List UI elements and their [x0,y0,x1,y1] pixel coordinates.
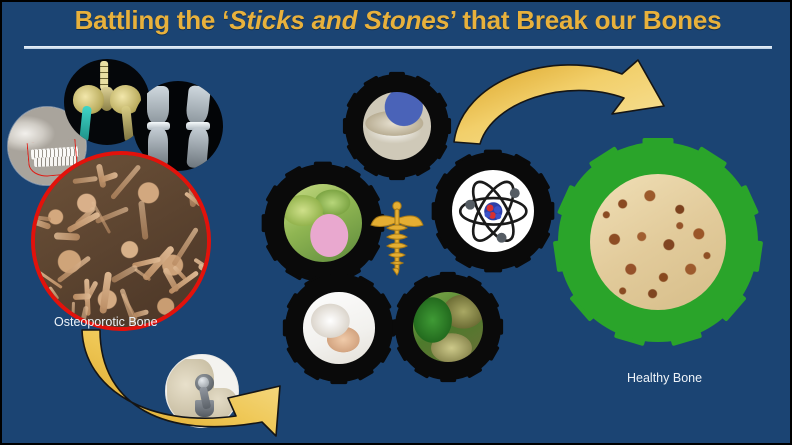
bone-strut [201,167,211,193]
atom-icon [452,170,535,253]
gear-garlic [285,274,393,382]
title-emphasis: Sticks and Stones [229,5,450,35]
herbs-spices-image [413,292,483,362]
femur-left [79,106,92,143]
healthy-bone-label: Healthy Bone [627,371,702,385]
bone-strut [35,297,54,331]
bone-strut [73,293,91,299]
title-prefix: Battling the ‘ [75,5,230,35]
bone-strut [198,163,211,192]
gear-nutrition [264,164,382,282]
gear-herbs [395,274,501,380]
osteoporotic-bone-image [31,151,211,331]
healthy-bone-image [590,174,726,310]
femur-right-xray [185,85,210,125]
slide-canvas: Battling the ‘Sticks and Stones’ that Br… [0,0,792,445]
femur-left-xray [147,86,169,124]
garlic-image [303,292,374,363]
title-suffix: ’ that Break our Bones [450,5,722,35]
bone-strut [46,174,55,191]
osteoporotic-struts [31,151,211,331]
bone-strut [112,151,141,153]
page-title: Battling the ‘Sticks and Stones’ that Br… [2,5,792,36]
healthy-bone-gear [558,142,758,342]
pharmaceutical-image [363,92,432,161]
bone-strut [73,176,98,185]
bone-strut [138,200,148,239]
fruits-vegetables-image [284,184,362,262]
atom-image [452,170,535,253]
bone-strut [53,233,79,241]
bone-strut [109,164,141,200]
gear-science [434,152,552,270]
bone-strut [198,263,211,287]
bone-strut [111,264,139,283]
caduceus-icon [369,198,425,276]
